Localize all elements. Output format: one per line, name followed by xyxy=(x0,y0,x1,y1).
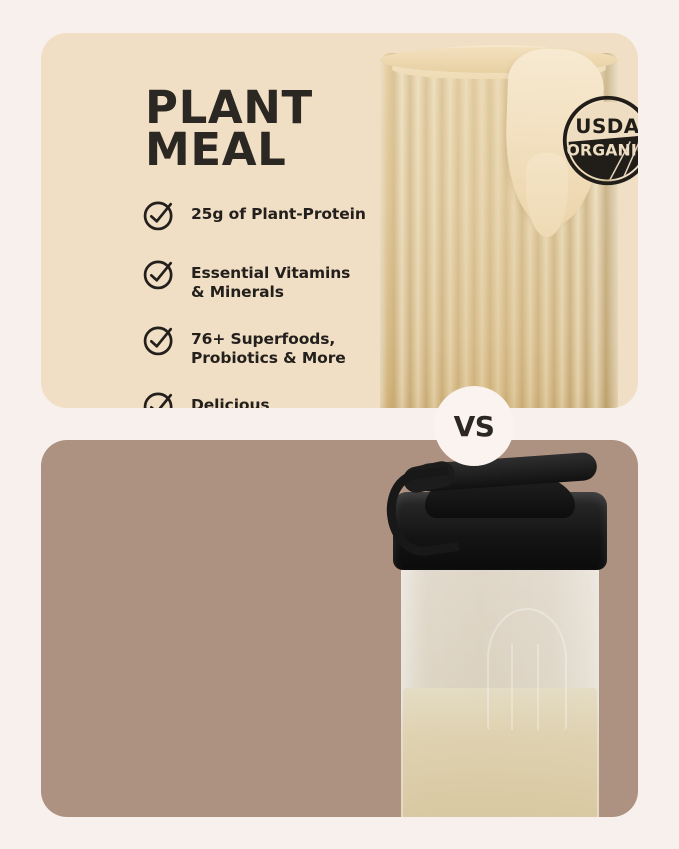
shaker-cup xyxy=(401,560,599,817)
check-circle-icon xyxy=(141,197,177,233)
feature-label: Delicious xyxy=(191,390,270,409)
shaker-bottle-image xyxy=(341,440,638,817)
smoothie-foam xyxy=(392,45,606,79)
shaker-lid xyxy=(393,492,607,570)
check-circle-icon xyxy=(141,322,177,358)
feature-label: Essential Vitamins & Minerals xyxy=(191,258,350,303)
check-circle-icon xyxy=(141,388,177,409)
check-circle-icon xyxy=(141,256,177,292)
comparison-infographic: PLANT MEAL USDA xyxy=(0,0,679,849)
shaker-carry-loop xyxy=(381,466,459,560)
plant-meal-title-line2: MEAL xyxy=(145,129,313,171)
usda-organic-seal: USDA ORGANIC xyxy=(560,93,638,188)
shaker-flip-cap xyxy=(414,452,598,493)
shaker-latch-tab xyxy=(401,459,457,495)
feature-item: 76+ Superfoods, Probiotics & More xyxy=(141,324,386,369)
svg-text:USDA: USDA xyxy=(575,114,638,138)
vs-badge: VS xyxy=(434,386,514,466)
feature-label: 25g of Plant-Protein xyxy=(191,199,366,224)
feature-item: Delicious xyxy=(141,390,386,409)
shaker-measurement-marks xyxy=(487,608,567,730)
protein-powders-panel: Protein Powders High in Protein xyxy=(41,440,638,817)
shaker-liquid xyxy=(403,688,597,817)
shaker-collar xyxy=(397,544,603,570)
plant-meal-title: PLANT MEAL xyxy=(145,87,313,171)
feature-item: 25g of Plant-Protein xyxy=(141,199,386,237)
glass-rim xyxy=(380,47,618,73)
feature-label: 76+ Superfoods, Probiotics & More xyxy=(191,324,346,369)
plant-meal-feature-list: 25g of Plant-Protein Essential Vitamins … xyxy=(141,199,386,408)
svg-text:ORGANIC: ORGANIC xyxy=(566,141,638,160)
plant-meal-panel: PLANT MEAL USDA xyxy=(41,33,638,408)
feature-item: Essential Vitamins & Minerals xyxy=(141,258,386,303)
vs-label: VS xyxy=(454,410,495,443)
shaker-dome xyxy=(425,470,575,518)
